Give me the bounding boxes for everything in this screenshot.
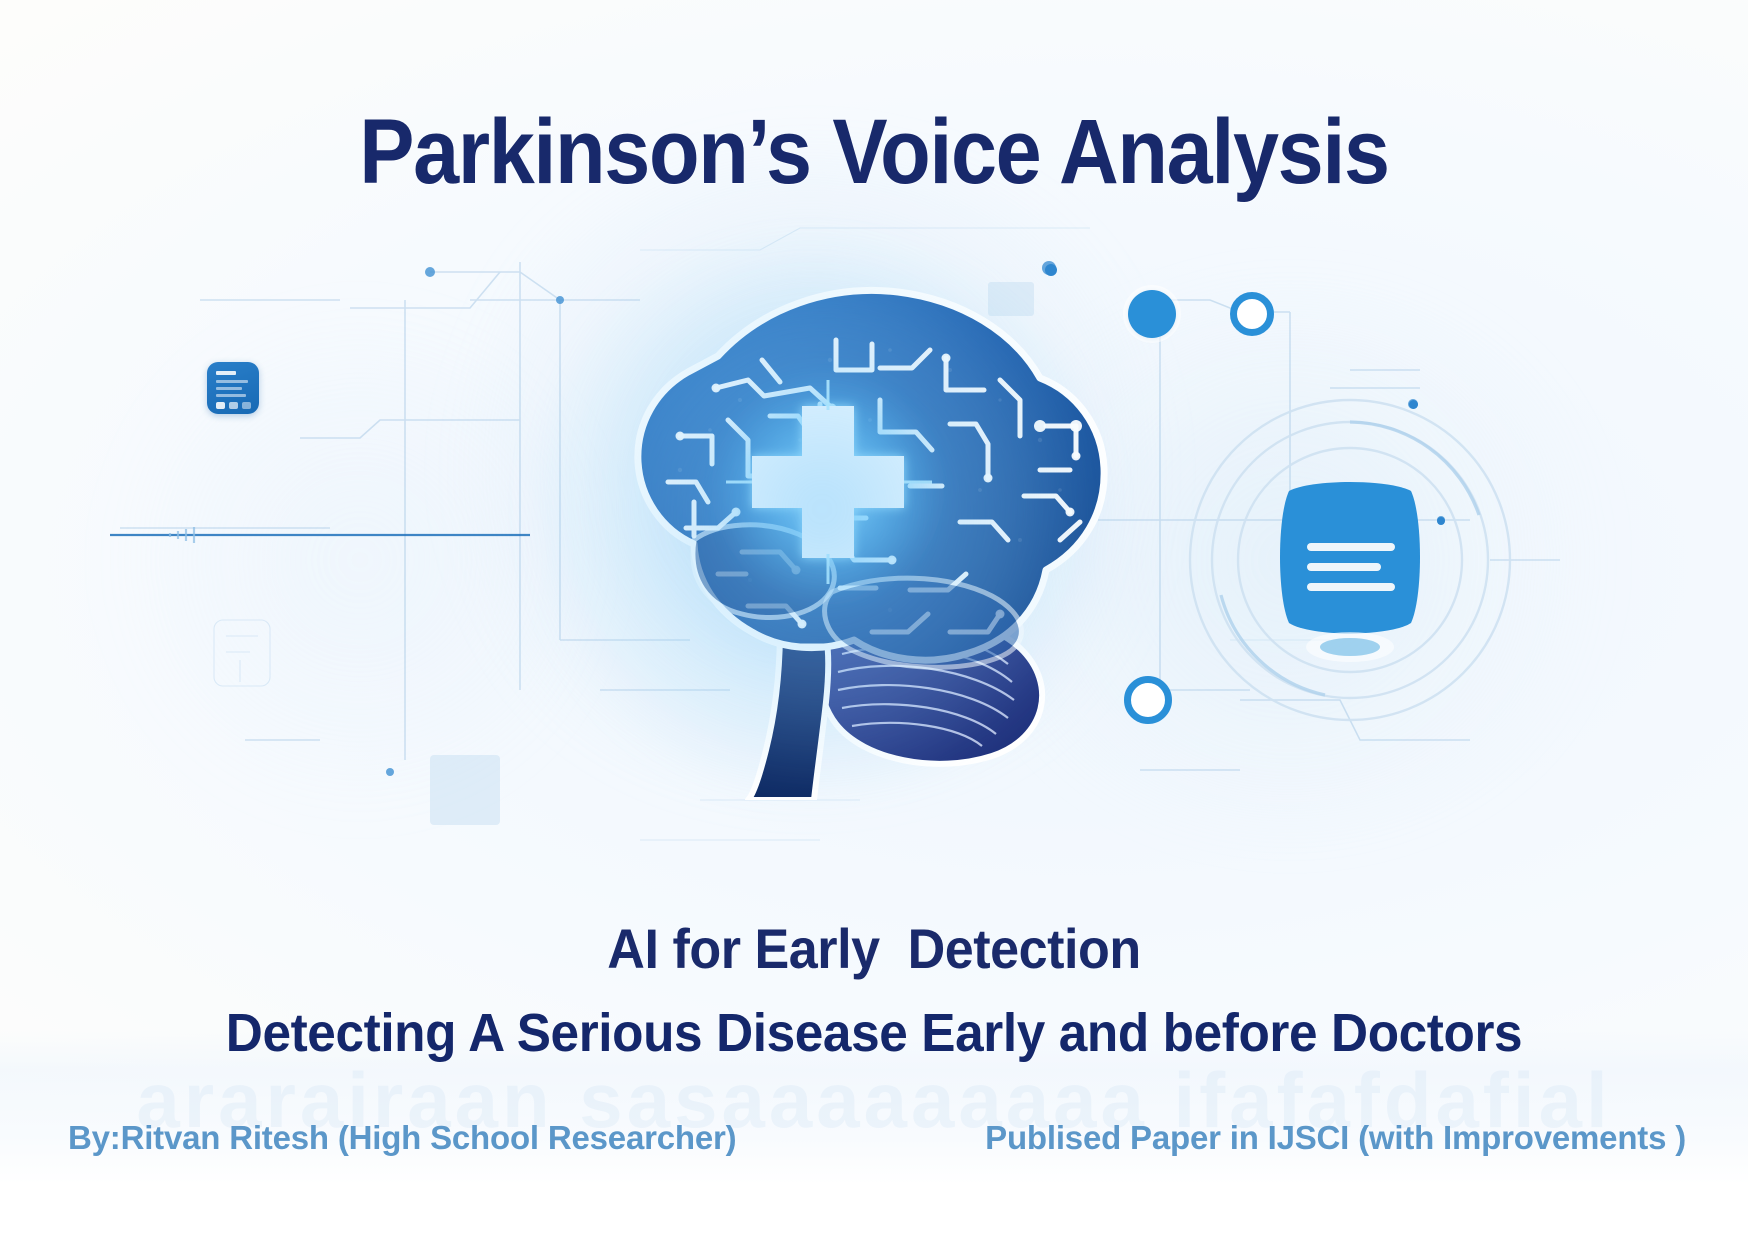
- publication-credit: Publised Paper in IJSCI (with Improvemen…: [985, 1119, 1686, 1157]
- brain-glow: [510, 250, 1110, 790]
- poster-root: Parkinson’s Voice Analysis AI for Early …: [0, 0, 1748, 1240]
- brain-illustration: [480, 240, 1140, 800]
- node-icon-target: [1230, 292, 1274, 336]
- tagline: AI for Early Detection: [61, 918, 1687, 980]
- scanner-rings: [1185, 395, 1515, 725]
- voice-waveform: [110, 255, 530, 815]
- node-icon-upload: [1128, 290, 1176, 338]
- page-title: Parkinson’s Voice Analysis: [87, 104, 1660, 202]
- hero-artwork: Parkinson’s Voice Analysis AI for Early …: [0, 0, 1748, 1185]
- node-dot-b: [1409, 400, 1418, 409]
- subtitle: Detecting A Serious Disease Early and be…: [44, 1002, 1705, 1064]
- node-icon-process: [1124, 676, 1172, 724]
- node-dot-c: [1437, 517, 1445, 525]
- data-card-icon: [207, 362, 259, 414]
- footer-strip: [0, 1182, 1748, 1240]
- node-dot-a: [1045, 264, 1057, 276]
- author-credit: By:Ritvan Ritesh (High School Researcher…: [68, 1119, 736, 1157]
- device-icon: [1280, 482, 1420, 634]
